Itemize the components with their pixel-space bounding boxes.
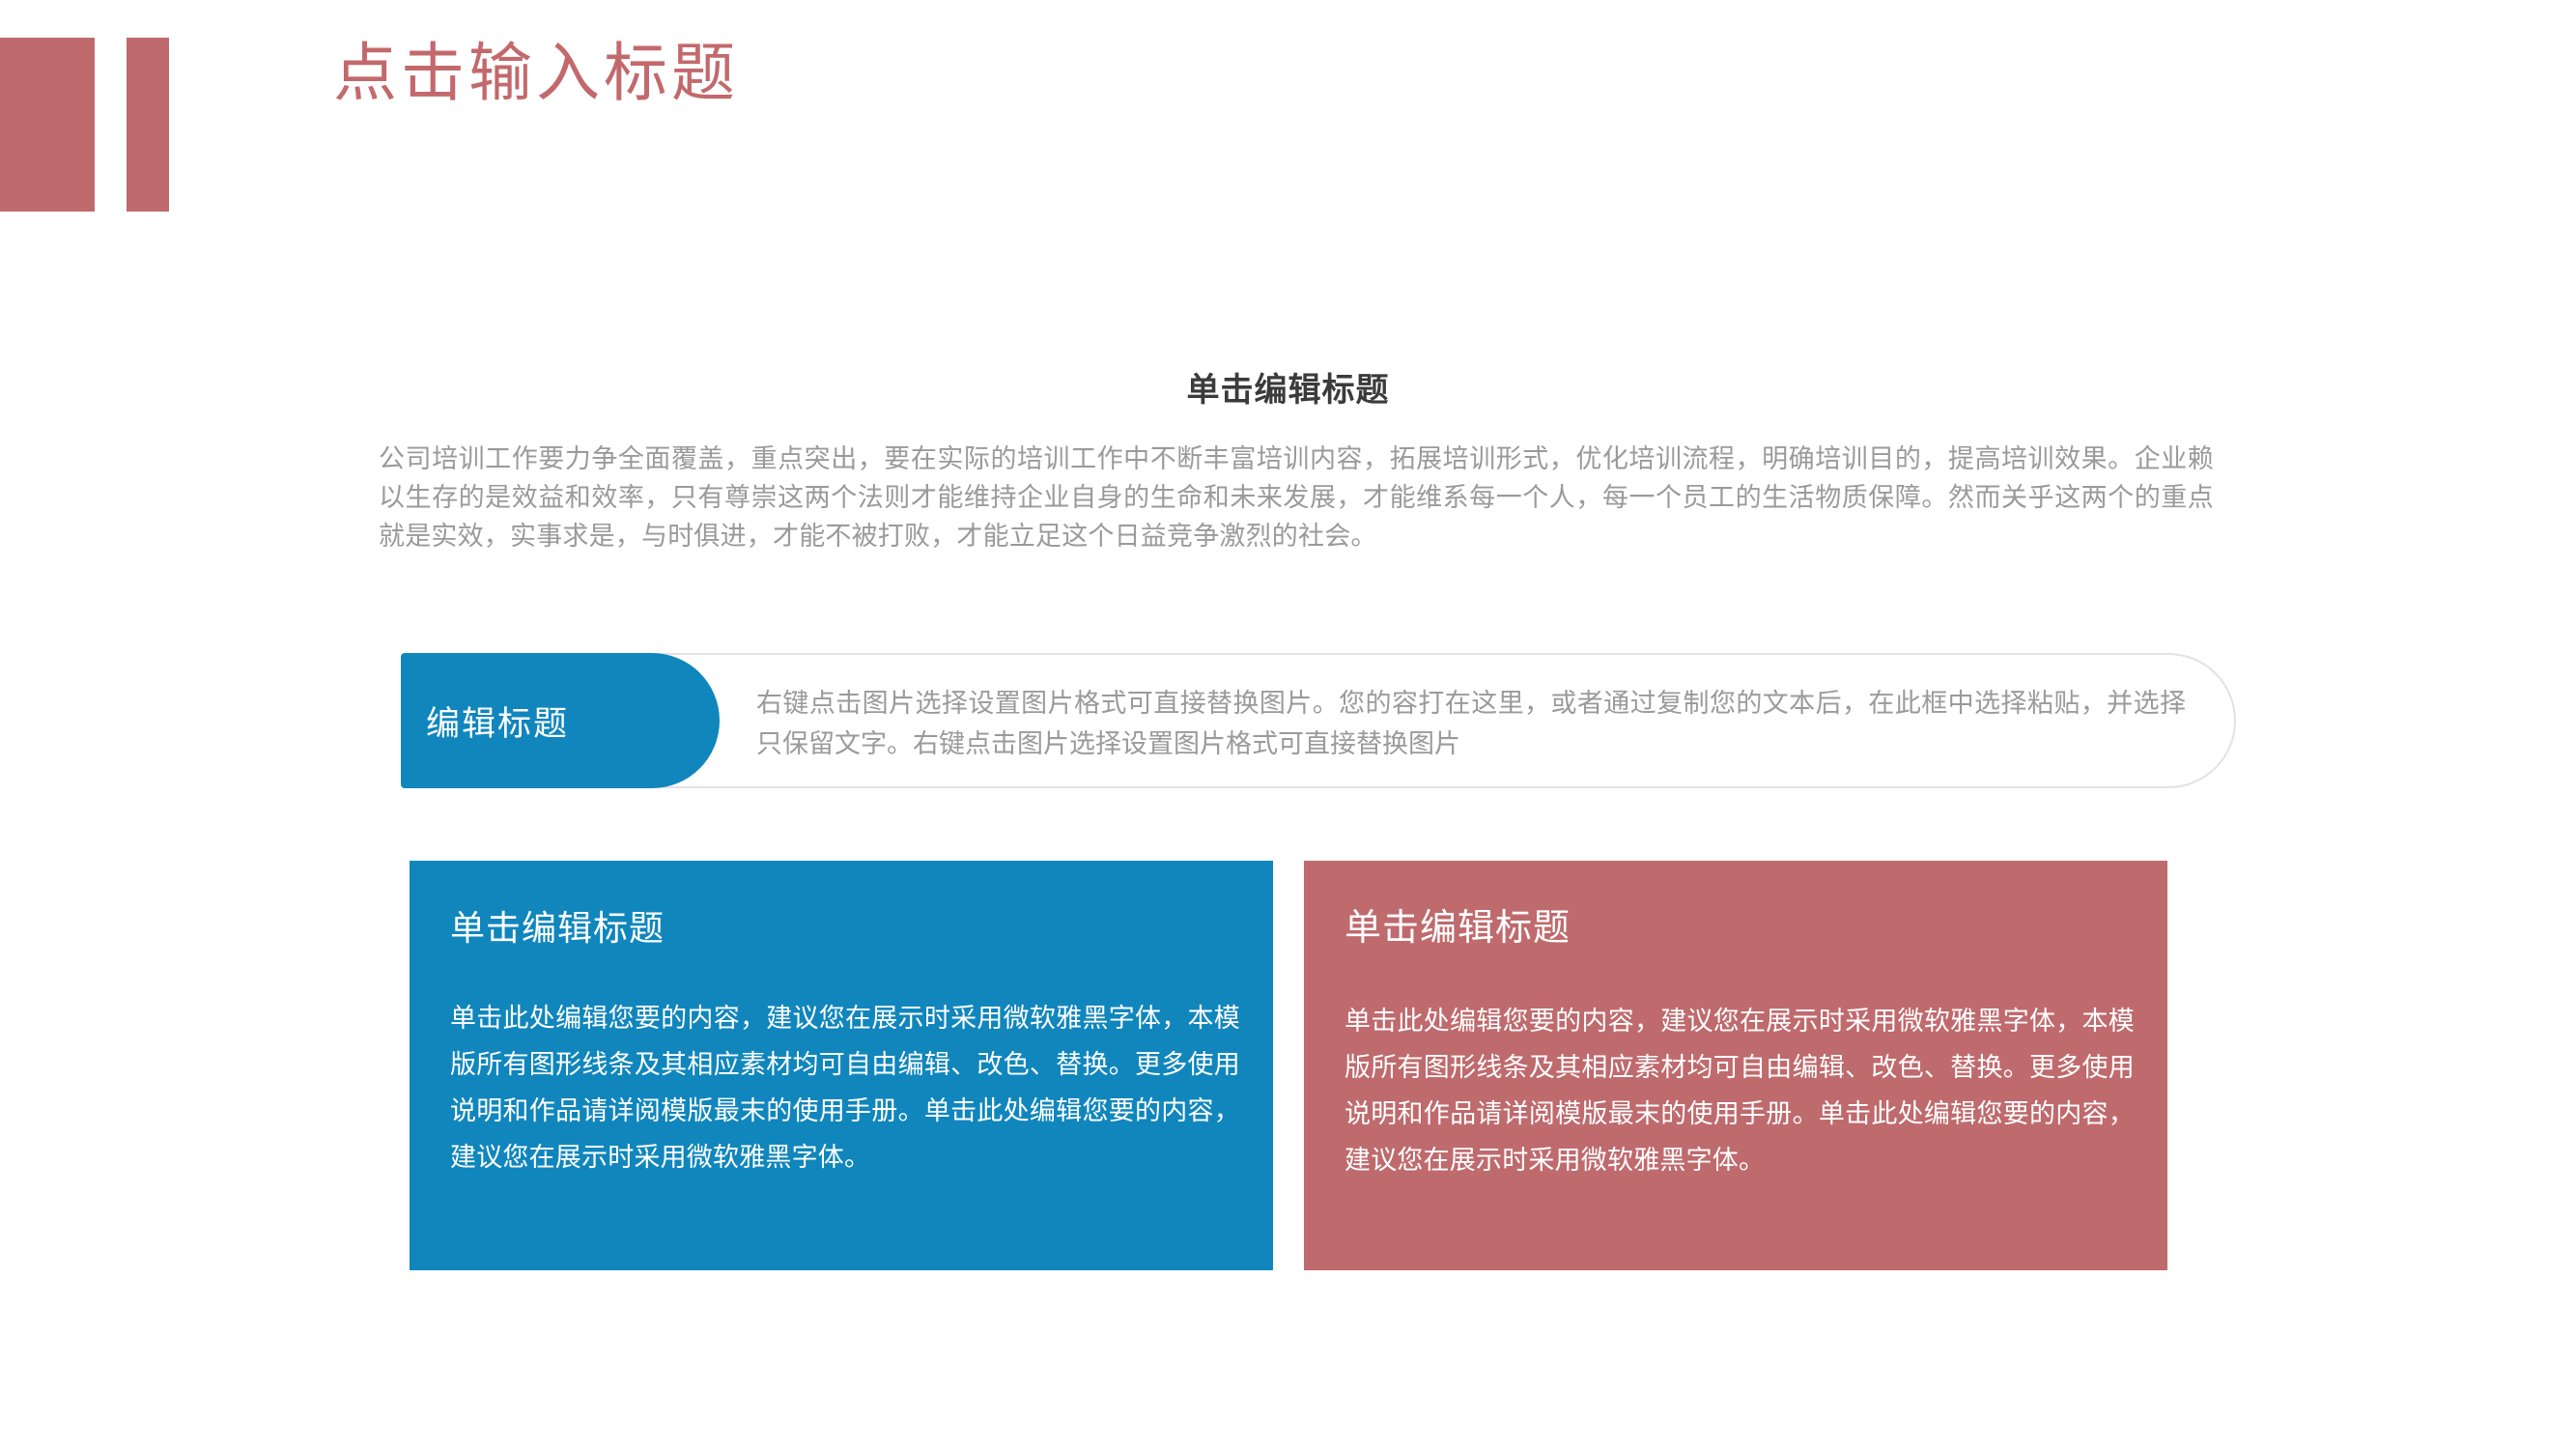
page-title: 点击输入标题 — [333, 35, 739, 111]
header-bar-wide — [0, 38, 95, 212]
card-red-body: 单击此处编辑您要的内容，建议您在展示时采用微软雅黑字体，本模版所有图形线条及其相… — [1345, 998, 2135, 1183]
header-bar-narrow — [127, 38, 169, 212]
banner-label-text: 编辑标题 — [426, 696, 569, 746]
content-card-blue[interactable]: 单击编辑标题 单击此处编辑您要的内容，建议您在展示时采用微软雅黑字体，本模版所有… — [410, 861, 1273, 1270]
content-card-red[interactable]: 单击编辑标题 单击此处编辑您要的内容，建议您在展示时采用微软雅黑字体，本模版所有… — [1304, 861, 2167, 1270]
card-red-title: 单击编辑标题 — [1345, 907, 2135, 952]
intro-paragraph-text: 公司培训工作要力争全面覆盖，重点突出，要在实际的培训工作中不断丰富培训内容，拓展… — [379, 440, 2214, 555]
card-blue-title: 单击编辑标题 — [450, 907, 1240, 949]
header-accent-bars — [0, 38, 174, 212]
banner-label-pill[interactable]: 编辑标题 — [401, 653, 720, 788]
editable-banner[interactable]: 右键点击图片选择设置图片格式可直接替换图片。您的容打在这里，或者通过复制您的文本… — [401, 653, 2236, 788]
intro-paragraph: 公司培训工作要力争全面覆盖，重点突出，要在实际的培训工作中不断丰富培训内容，拓展… — [379, 440, 2214, 555]
banner-description: 右键点击图片选择设置图片格式可直接替换图片。您的容打在这里，或者通过复制您的文本… — [756, 683, 2186, 764]
intro-heading: 单击编辑标题 — [0, 370, 2576, 412]
card-blue-body: 单击此处编辑您要的内容，建议您在展示时采用微软雅黑字体，本模版所有图形线条及其相… — [450, 995, 1240, 1180]
